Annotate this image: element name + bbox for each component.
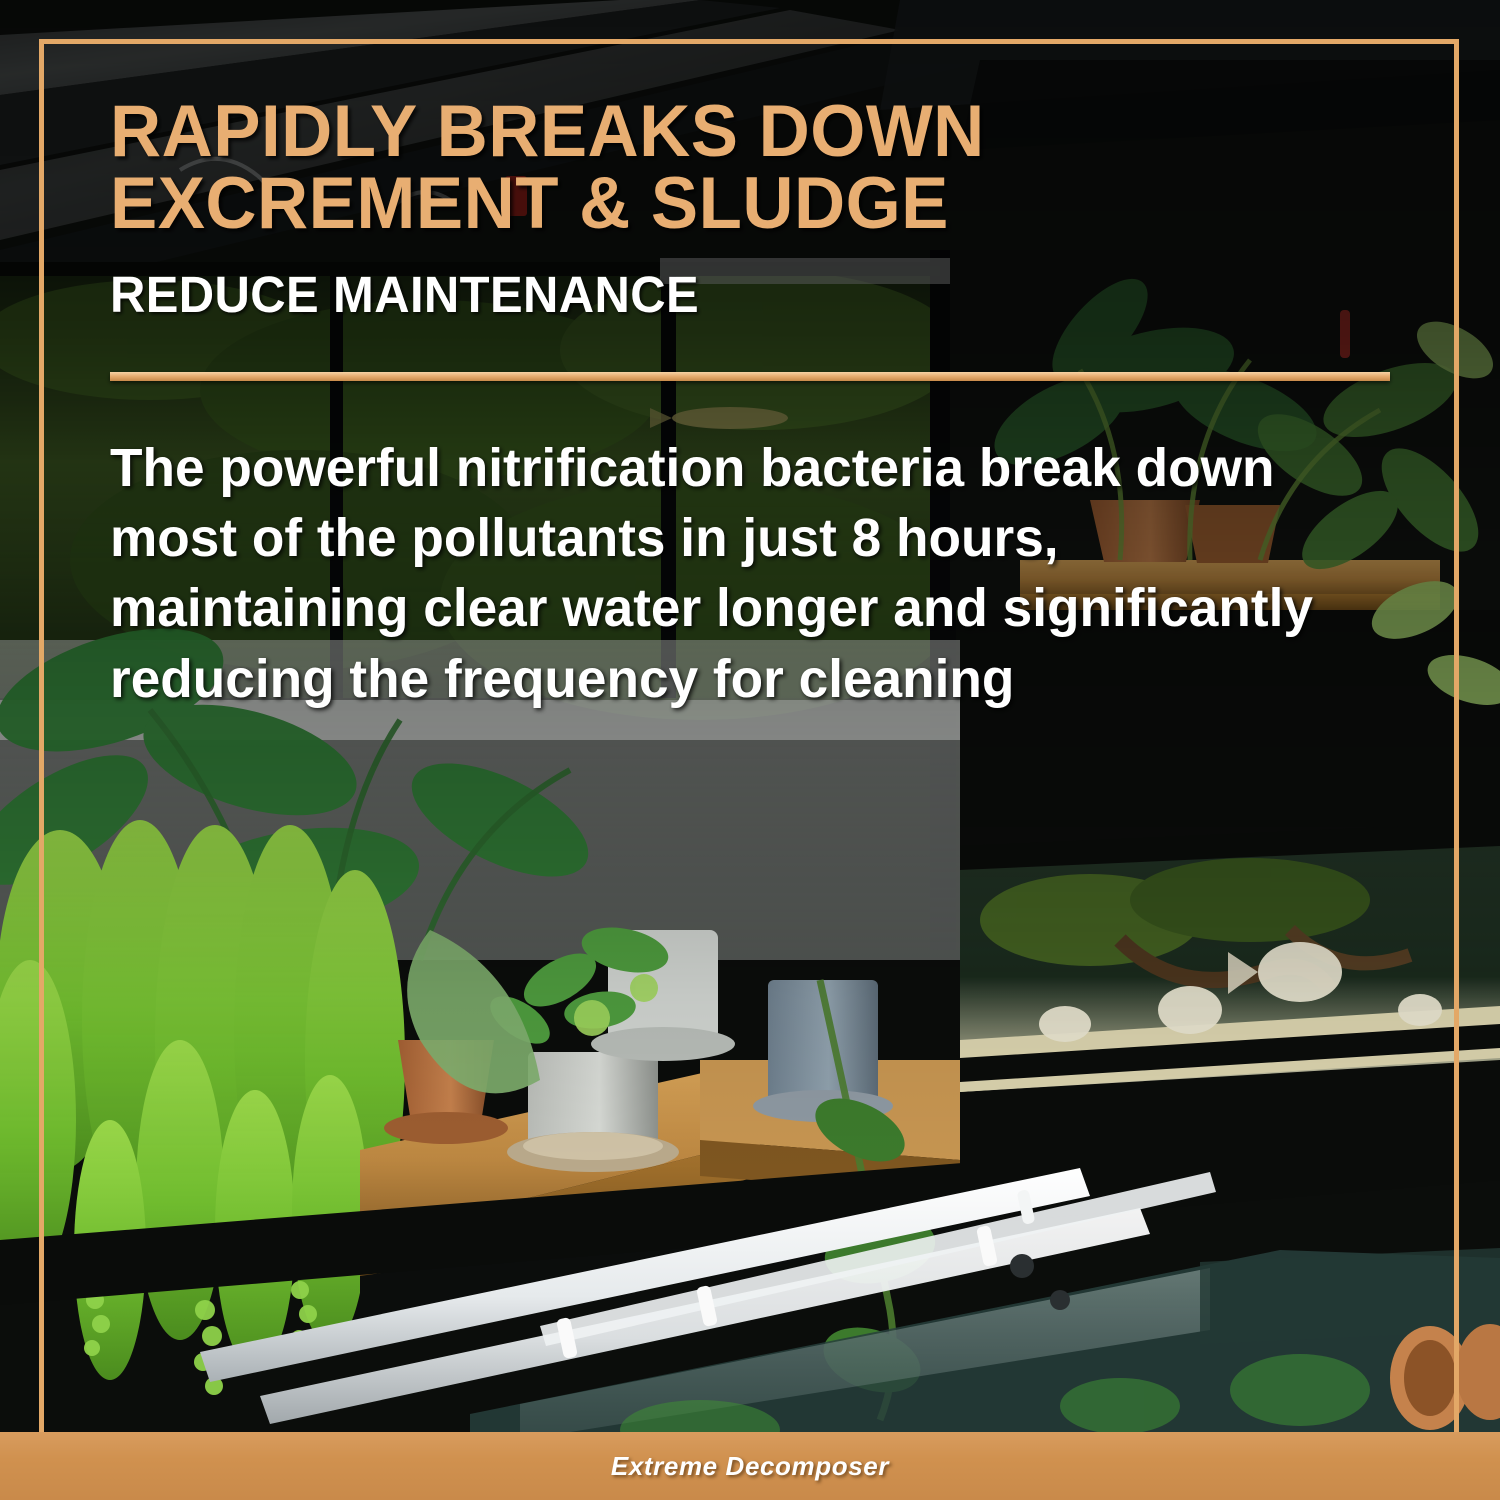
footer-bar: Extreme Decomposer [0,1432,1500,1500]
gold-divider-rule [110,372,1390,381]
product-name-label: Extreme Decomposer [611,1451,889,1482]
body-paragraph: The powerful nitrification bacteria brea… [110,433,1361,714]
infographic-canvas: RAPIDLY BREAKS DOWN EXCREMENT & SLUDGE R… [0,0,1500,1500]
content-block: RAPIDLY BREAKS DOWN EXCREMENT & SLUDGE R… [110,96,1400,714]
headline: RAPIDLY BREAKS DOWN EXCREMENT & SLUDGE [110,96,1361,239]
subheadline: REDUCE MAINTENANCE [110,265,1348,324]
